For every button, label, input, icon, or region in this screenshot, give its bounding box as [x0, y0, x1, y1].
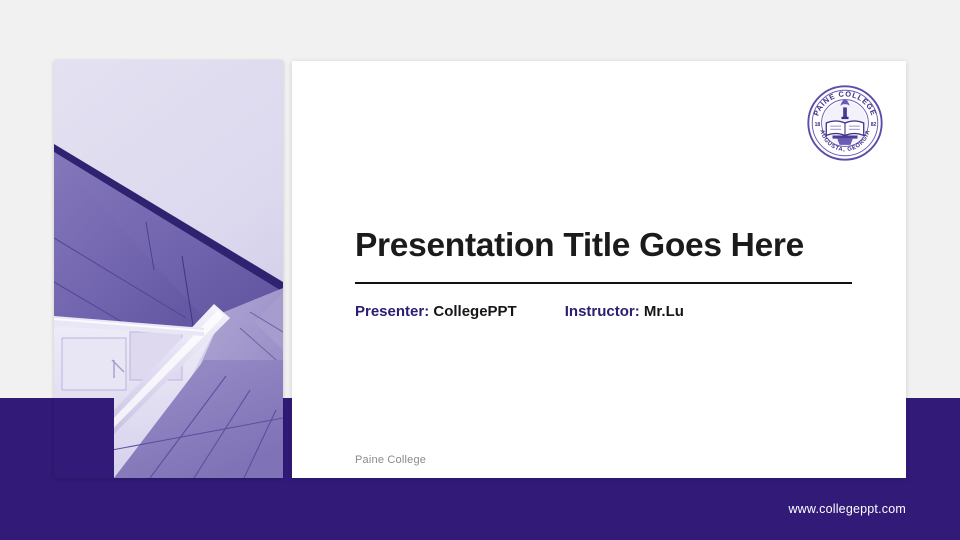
title-block: Presentation Title Goes Here Presenter: … [355, 227, 855, 320]
cover-photo-artwork [54, 60, 283, 478]
cover-photo [54, 60, 283, 478]
presenter-field: Presenter: CollegePPT [355, 303, 517, 320]
slide-content-card: PAINE COLLEGE AUGUSTA, GEORGIA 18 82 [292, 61, 906, 478]
presenter-meta-row: Presenter: CollegePPT Instructor: Mr.Lu [355, 303, 855, 320]
presenter-value: CollegePPT [433, 303, 516, 320]
website-url: www.collegeppt.com [788, 502, 906, 516]
presenter-label: Presenter: [355, 303, 429, 320]
instructor-label: Instructor: [565, 303, 640, 320]
slide-canvas: www.collegeppt.com [0, 0, 960, 540]
card-footer-text: Paine College [355, 454, 426, 466]
title-divider [355, 282, 852, 284]
college-seal-icon: PAINE COLLEGE AUGUSTA, GEORGIA 18 82 [806, 84, 884, 162]
svg-text:82: 82 [871, 122, 877, 128]
instructor-field: Instructor: Mr.Lu [565, 303, 684, 320]
instructor-value: Mr.Lu [644, 303, 684, 320]
page-title: Presentation Title Goes Here [355, 227, 855, 265]
seal-artwork: PAINE COLLEGE AUGUSTA, GEORGIA 18 82 [806, 84, 884, 162]
svg-text:18: 18 [815, 122, 821, 128]
